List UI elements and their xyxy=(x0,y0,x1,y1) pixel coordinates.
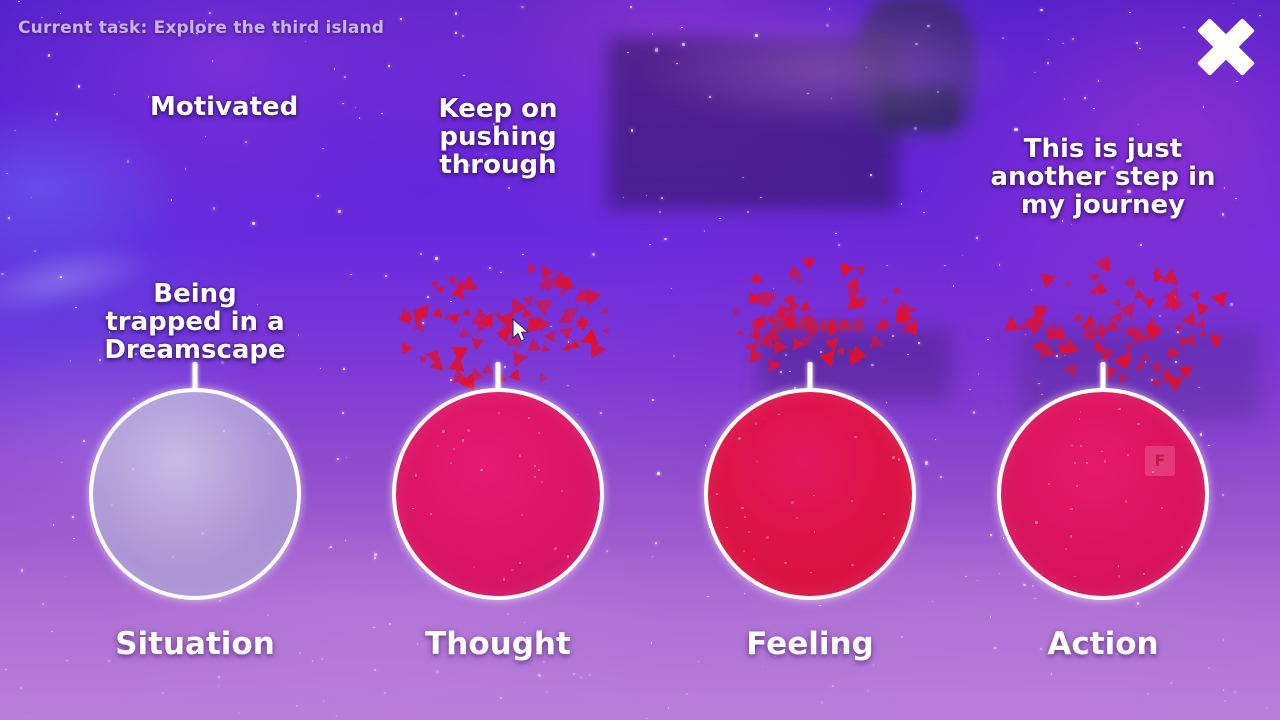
bubble-text-thought: Keep on pushing through xyxy=(348,95,648,179)
bubble-text-situation: Being trapped in a Dreamscape xyxy=(45,280,345,364)
key-hint-badge-action[interactable]: F xyxy=(1145,446,1175,476)
bubble-text-action: This is just another step in my journey xyxy=(953,135,1253,219)
column-label-situation: Situation xyxy=(45,626,345,662)
motivated-bubble-text: Motivated xyxy=(150,93,330,121)
circle-ring-situation xyxy=(89,388,301,600)
column-thought[interactable]: Keep on pushing throughThought xyxy=(348,0,648,720)
circle-ring-action xyxy=(997,388,1209,600)
column-action[interactable]: This is just another step in my journeyF… xyxy=(953,0,1253,720)
circle-thought[interactable] xyxy=(392,388,604,600)
column-label-action: Action xyxy=(953,626,1253,662)
column-label-thought: Thought xyxy=(348,626,648,662)
circle-feeling[interactable] xyxy=(704,388,916,600)
column-feeling[interactable]: Feeling xyxy=(660,0,960,720)
circle-action[interactable]: F xyxy=(997,388,1209,600)
circle-ring-thought xyxy=(392,388,604,600)
circle-ring-feeling xyxy=(704,388,916,600)
column-label-feeling: Feeling xyxy=(660,626,960,662)
game-screen: Defeated Current task: Explore the third… xyxy=(0,0,1280,720)
circle-situation[interactable] xyxy=(89,388,301,600)
